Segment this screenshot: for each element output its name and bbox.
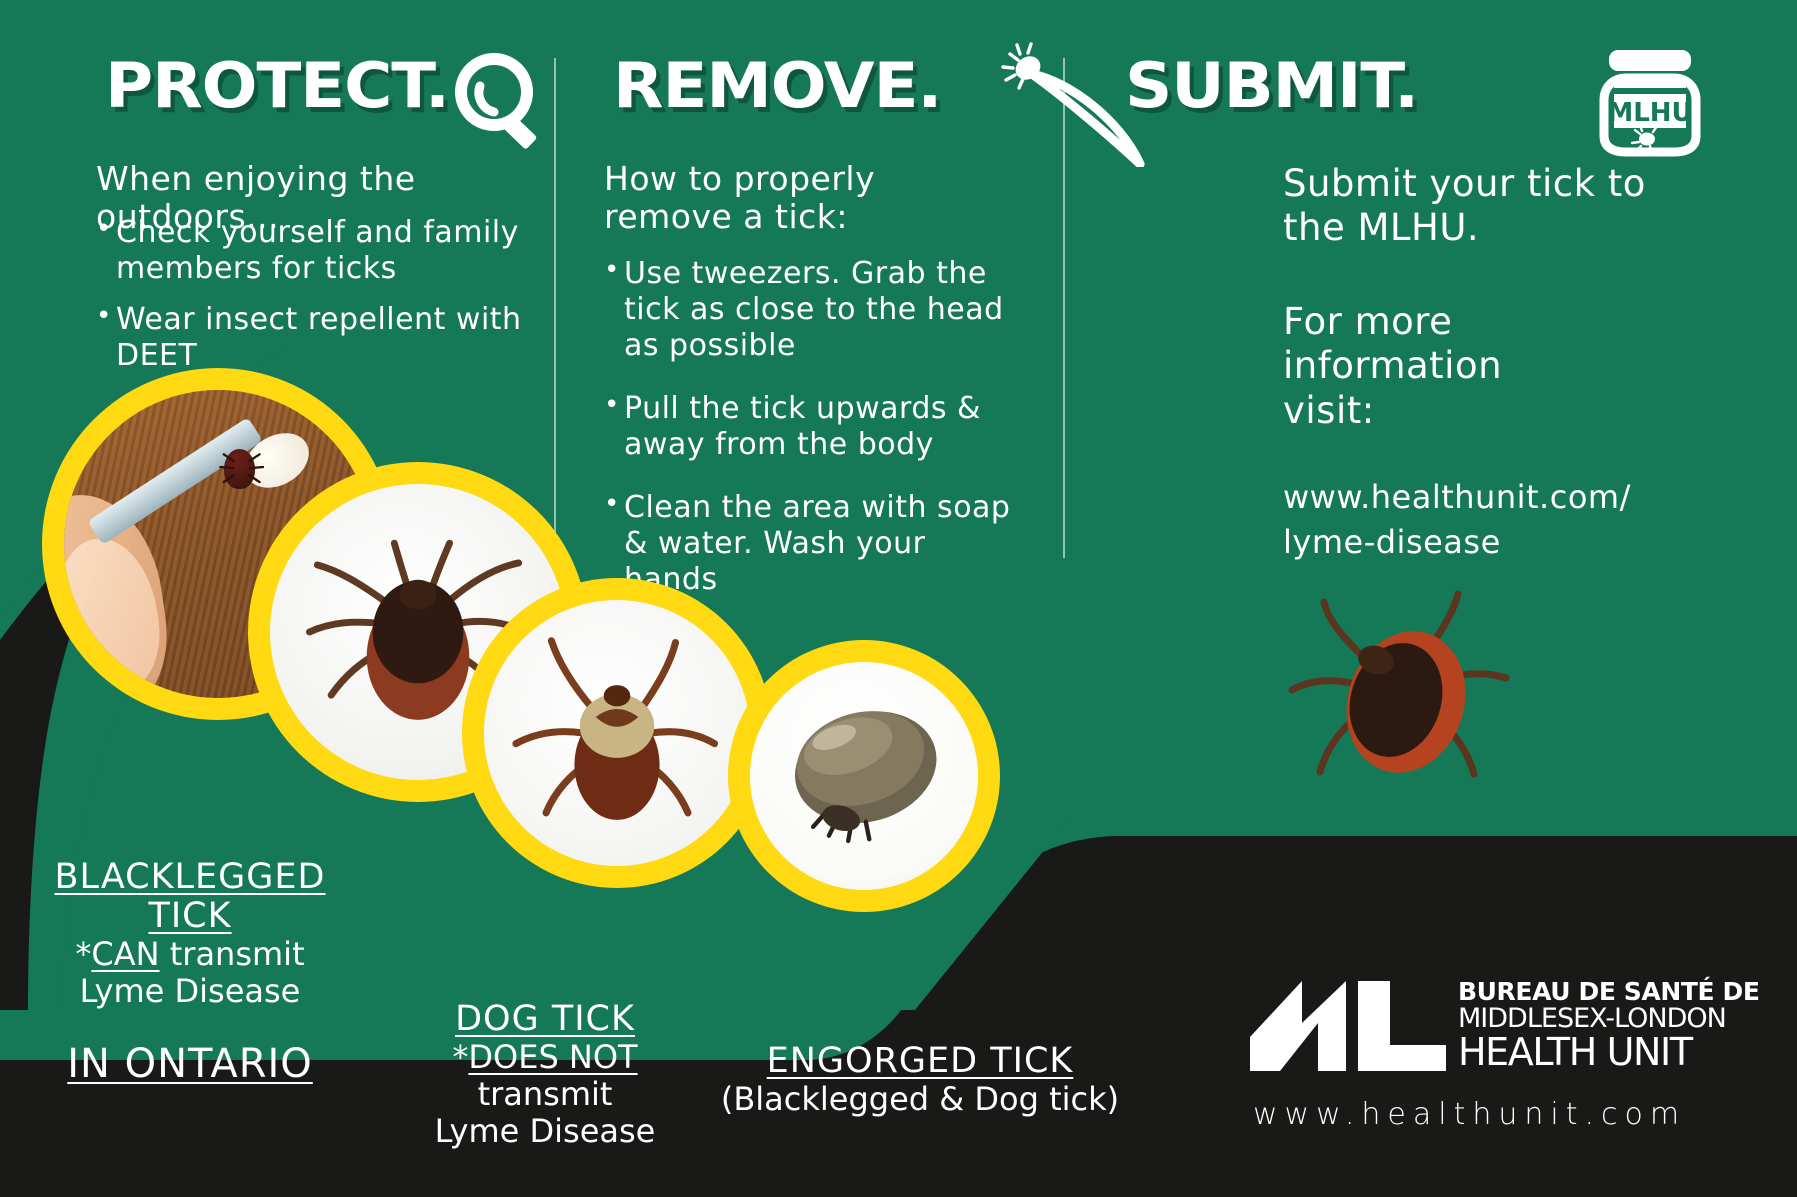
caption-dog-tick: DOG TICK *DOES NOT transmit Lyme Disease	[395, 1000, 695, 1151]
list-item: Check yourself and family members for ti…	[96, 215, 536, 287]
list-item: Clean the area with soap & water. Wash y…	[604, 490, 1014, 598]
caption-note: *CAN transmit	[40, 936, 340, 973]
heading-protect: PROTECT.	[105, 55, 449, 117]
magnifying-glass-icon	[447, 46, 557, 156]
ml-monogram-icon	[1250, 975, 1446, 1071]
healthunit-url[interactable]: www.healthunit.com	[1253, 1097, 1686, 1132]
url-line-1: www.healthunit.com/	[1283, 475, 1683, 520]
remove-bullet-list: Use tweezers. Grab the tick as close to …	[604, 256, 1014, 613]
dog-tick-photo	[484, 600, 750, 866]
caption-line: DOG TICK	[395, 1000, 695, 1039]
logo-line-3: HEALTH UNIT	[1458, 1033, 1760, 1071]
jar-label: MLHU	[1607, 98, 1692, 128]
list-item: Pull the tick upwards & away from the bo…	[604, 391, 1014, 463]
note-emphasis: CAN	[91, 935, 159, 973]
caption-note: *DOES NOT transmit	[395, 1039, 695, 1113]
logo-line-2: MIDDLESEX-LONDON	[1458, 1005, 1760, 1032]
caption-line: BLACKLEGGED	[40, 858, 340, 897]
heading-submit: SUBMIT.	[1125, 55, 1418, 117]
list-item: Wear insect repellent with DEET	[96, 302, 536, 374]
caption-note-line2: Lyme Disease	[395, 1113, 695, 1150]
engorged-tick-photo	[750, 662, 978, 890]
caption-line: ENGORGED TICK	[700, 1042, 1140, 1081]
lyme-disease-url[interactable]: www.healthunit.com/ lyme-disease	[1283, 475, 1683, 565]
url-line-2: lyme-disease	[1283, 520, 1683, 565]
note-prefix: *	[452, 1038, 468, 1076]
remove-lead: How to properly remove a tick:	[604, 160, 934, 237]
caption-line: TICK	[40, 897, 340, 936]
note-prefix: *	[75, 935, 91, 973]
caption-blacklegged: BLACKLEGGED TICK *CAN transmit Lyme Dise…	[40, 858, 340, 1011]
caption-engorged-tick: ENGORGED TICK (Blacklegged & Dog tick)	[700, 1042, 1140, 1118]
protect-bullet-list: Check yourself and family members for ti…	[96, 215, 536, 389]
in-ontario-text: IN ONTARIO	[40, 1042, 340, 1087]
caption-note-line2: (Blacklegged & Dog tick)	[700, 1081, 1140, 1118]
caption-in-ontario: IN ONTARIO	[40, 1042, 340, 1087]
heading-remove: REMOVE.	[613, 55, 941, 117]
mlhu-logo: BUREAU DE SANTÉ DE MIDDLESEX-LONDON HEAL…	[1250, 975, 1760, 1071]
large-blacklegged-tick-photo	[1268, 580, 1518, 810]
caption-note-line2: Lyme Disease	[40, 973, 340, 1010]
submit-lead-secondary: For more information visit:	[1283, 300, 1543, 433]
photo-circle-engorged-tick	[728, 640, 1000, 912]
submit-lead: Submit your tick to the MLHU.	[1283, 162, 1663, 251]
list-item: Use tweezers. Grab the tick as close to …	[604, 256, 1014, 364]
note-emphasis: DOES NOT	[468, 1038, 637, 1076]
note-rest: transmit	[478, 1075, 613, 1113]
note-rest: transmit	[160, 935, 305, 973]
specimen-jar-icon: MLHU	[1592, 38, 1717, 158]
infographic-canvas: PROTECT. When enjoying the outdoors... C…	[0, 0, 1797, 1197]
logo-line-1: BUREAU DE SANTÉ DE	[1458, 979, 1760, 1004]
mlhu-logo-text: BUREAU DE SANTÉ DE MIDDLESEX-LONDON HEAL…	[1458, 979, 1760, 1071]
photo-circle-dog-tick	[462, 578, 772, 888]
